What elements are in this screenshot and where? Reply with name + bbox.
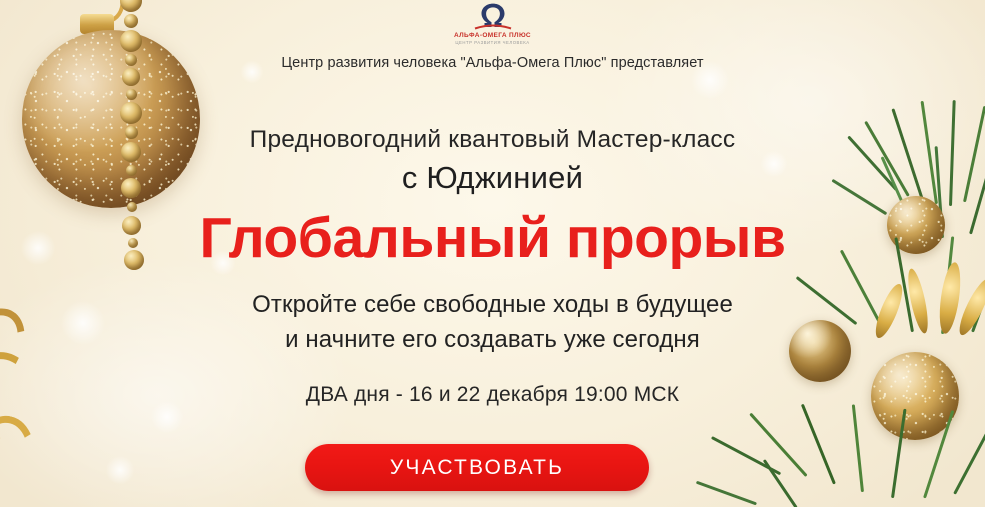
- page-title: Глобальный прорыв: [0, 208, 985, 270]
- presenter-line: Центр развития человека "Альфа-Омега Плю…: [0, 55, 985, 71]
- banner-content: АЛЬФА-ОМЕГА ПЛЮС ЦЕНТР РАЗВИТИЯ ЧЕЛОВЕКА…: [0, 0, 985, 507]
- omega-logo-icon: [458, 2, 528, 32]
- brand-name: АЛЬФА-ОМЕГА ПЛЮС: [454, 33, 531, 40]
- participate-button[interactable]: УЧАСТВОВАТЬ: [305, 444, 649, 491]
- event-dates: ДВА дня - 16 и 22 декабря 19:00 МСК: [0, 383, 985, 407]
- brand-tagline: ЦЕНТР РАЗВИТИЯ ЧЕЛОВЕКА: [455, 41, 529, 45]
- subtitle-line-1: Откройте себе свободные ходы в будущее: [0, 291, 985, 319]
- omega-symbol-icon: [473, 2, 513, 30]
- promo-banner: АЛЬФА-ОМЕГА ПЛЮС ЦЕНТР РАЗВИТИЯ ЧЕЛОВЕКА…: [0, 0, 985, 507]
- brand-logo: АЛЬФА-ОМЕГА ПЛЮС ЦЕНТР РАЗВИТИЯ ЧЕЛОВЕКА: [0, 2, 985, 45]
- subtitle-line-2: и начните его создавать уже сегодня: [0, 326, 985, 354]
- kicker-line-1: Предновогодний квантовый Мастер-класс: [0, 126, 985, 154]
- kicker-line-2: с Юджинией: [0, 160, 985, 196]
